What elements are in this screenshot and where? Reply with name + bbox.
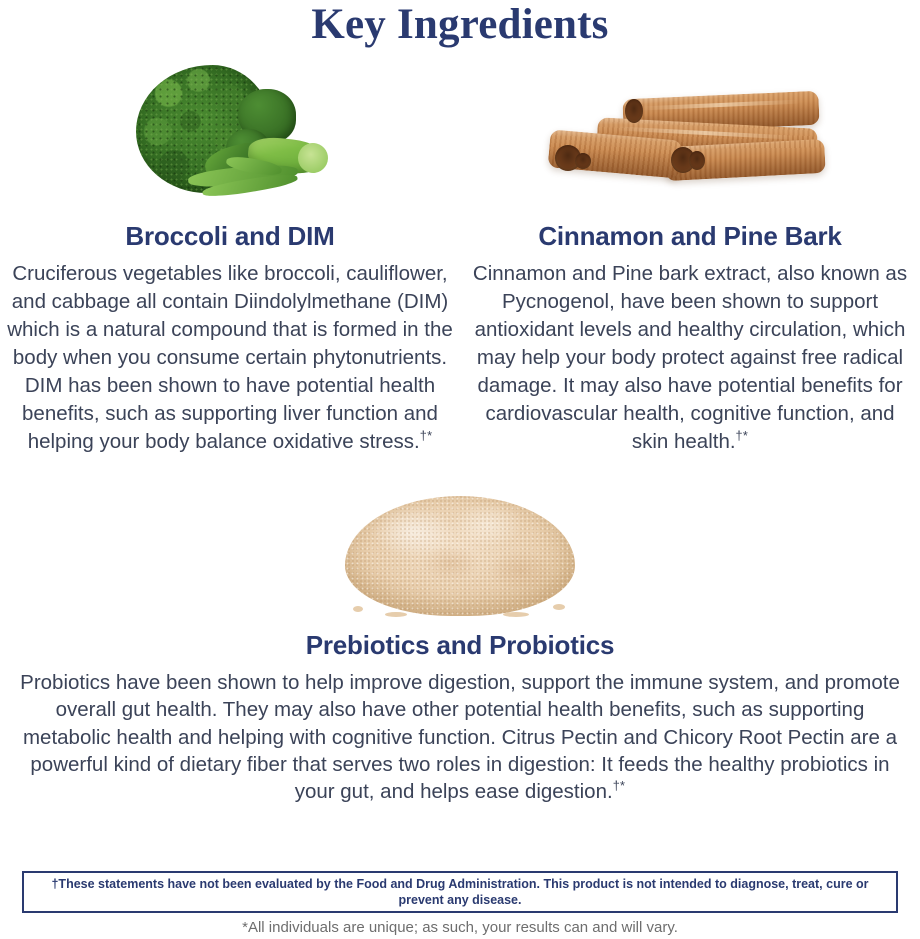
powder-sprinkle-shape (353, 606, 363, 612)
section-body-text: Cinnamon and Pine bark extract, also kno… (473, 262, 907, 453)
fda-disclaimer-box: †These statements have not been evaluate… (22, 871, 898, 913)
section-body-text: Probiotics have been shown to help impro… (20, 671, 900, 803)
key-ingredients-panel: Key Ingredients Broccoli and DIM Crucife… (0, 0, 920, 939)
fda-disclaimer-text: †These statements have not been evaluate… (24, 876, 896, 909)
powder-sprinkle-shape (385, 612, 407, 617)
broccoli-image (0, 59, 460, 209)
section-body-prebiotics-probiotics: Probiotics have been shown to help impro… (10, 669, 910, 805)
page-title: Key Ingredients (0, 0, 920, 47)
section-body-text: Cruciferous vegetables like broccoli, ca… (7, 262, 453, 453)
powder-sprinkle-shape (503, 612, 529, 617)
cinnamon-sticks-image (460, 59, 920, 209)
ingredient-card-prebiotics-probiotics: Prebiotics and Probiotics Probiotics hav… (0, 478, 920, 805)
powder-mound-shape (345, 496, 575, 616)
powder-mound-image (0, 478, 920, 618)
powder-sprinkle-shape (553, 604, 565, 610)
section-heading-prebiotics-probiotics: Prebiotics and Probiotics (306, 630, 615, 661)
footnote-marks: †* (420, 428, 433, 443)
cinnamon-illustration (545, 73, 835, 209)
broccoli-illustration (130, 63, 330, 209)
section-heading-cinnamon-pine-bark: Cinnamon and Pine Bark (538, 221, 841, 252)
footnote-marks: †* (736, 428, 749, 443)
powder-illustration (345, 488, 575, 618)
section-body-broccoli-dim: Cruciferous vegetables like broccoli, ca… (6, 260, 454, 456)
cinnamon-stick-end-shape (625, 99, 643, 123)
section-heading-broccoli-dim: Broccoli and DIM (125, 221, 334, 252)
ingredient-card-cinnamon-pine-bark: Cinnamon and Pine Bark Cinnamon and Pine… (460, 59, 920, 456)
footnote-marks: †* (613, 778, 626, 793)
ingredient-columns: Broccoli and DIM Cruciferous vegetables … (0, 59, 920, 456)
cinnamon-stick-end-shape (689, 151, 705, 170)
section-body-cinnamon-pine-bark: Cinnamon and Pine bark extract, also kno… (466, 260, 914, 456)
ingredient-card-broccoli-dim: Broccoli and DIM Cruciferous vegetables … (0, 59, 460, 456)
results-vary-footnote: *All individuals are unique; as such, yo… (0, 919, 920, 936)
